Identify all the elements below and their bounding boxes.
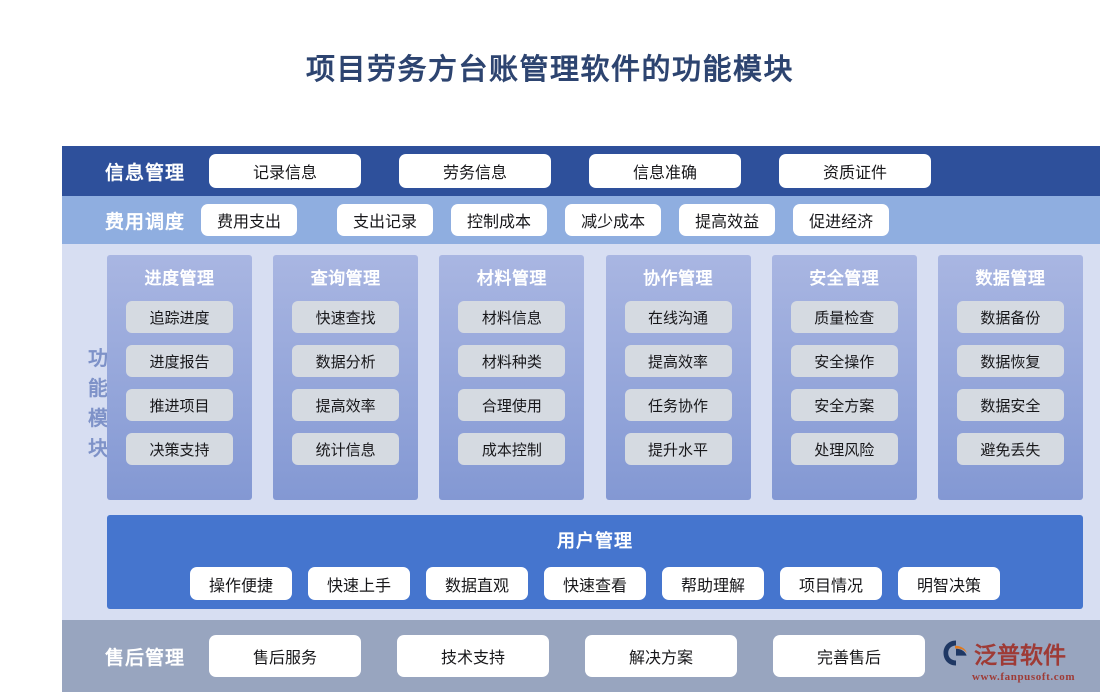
function-modules-section: 功 能 模 块 进度管理 追踪进度 进度报告 推进项目 决策支持 查询管理 快速… [62, 244, 1100, 620]
col-pill-safety-0[interactable]: 质量检查 [791, 301, 898, 333]
page-title: 项目劳务方台账管理软件的功能模块 [0, 46, 1100, 88]
row-label-information-management: 信息管理 [105, 158, 185, 185]
col-pill-collaboration-1[interactable]: 提高效率 [625, 345, 732, 377]
module-column-data: 数据管理 数据备份 数据恢复 数据安全 避免丢失 [938, 255, 1083, 500]
col-pill-data-3[interactable]: 避免丢失 [957, 433, 1064, 465]
pill-after-sales-3[interactable]: 完善售后 [773, 635, 925, 677]
pill-after-sales-0[interactable]: 售后服务 [209, 635, 361, 677]
brand-logo: 泛普软件 www.fanpusoft.com [942, 636, 1092, 683]
module-column-collaboration: 协作管理 在线沟通 提高效率 任务协作 提升水平 [606, 255, 751, 500]
row-information-management: 信息管理 记录信息 劳务信息 信息准确 资质证件 [62, 146, 1100, 196]
pill-user-2[interactable]: 数据直观 [426, 567, 528, 600]
col-pill-query-1[interactable]: 数据分析 [292, 345, 399, 377]
col-pill-collaboration-2[interactable]: 任务协作 [625, 389, 732, 421]
pill-info-0[interactable]: 记录信息 [209, 154, 361, 188]
col-pill-progress-1[interactable]: 进度报告 [126, 345, 233, 377]
column-title-safety: 安全管理 [809, 264, 879, 289]
panel-title-user-management: 用户管理 [107, 527, 1083, 553]
col-pill-progress-0[interactable]: 追踪进度 [126, 301, 233, 333]
module-column-list: 进度管理 追踪进度 进度报告 推进项目 决策支持 查询管理 快速查找 数据分析 … [107, 255, 1083, 500]
panel-user-management: 用户管理 操作便捷 快速上手 数据直观 快速查看 帮助理解 项目情况 明智决策 [107, 515, 1083, 609]
row-cost-scheduling: 费用调度 费用支出 支出记录 控制成本 减少成本 提高效益 促进经济 [62, 196, 1100, 244]
col-pill-material-1[interactable]: 材料种类 [458, 345, 565, 377]
column-title-progress: 进度管理 [145, 264, 215, 289]
col-pill-query-2[interactable]: 提高效率 [292, 389, 399, 421]
module-column-progress: 进度管理 追踪进度 进度报告 推进项目 决策支持 [107, 255, 252, 500]
pill-after-sales-1[interactable]: 技术支持 [397, 635, 549, 677]
pill-cost-2[interactable]: 控制成本 [451, 204, 547, 236]
pill-user-3[interactable]: 快速查看 [544, 567, 646, 600]
col-pill-progress-2[interactable]: 推进项目 [126, 389, 233, 421]
pill-cost-4[interactable]: 提高效益 [679, 204, 775, 236]
pill-cost-5[interactable]: 促进经济 [793, 204, 889, 236]
module-column-safety: 安全管理 质量检查 安全操作 安全方案 处理风险 [772, 255, 917, 500]
row-info-pill-list: 记录信息 劳务信息 信息准确 资质证件 [209, 154, 931, 188]
logo-brand-name: 泛普软件 [974, 636, 1066, 670]
pill-info-3[interactable]: 资质证件 [779, 154, 931, 188]
功能模块-diagram: 信息管理 记录信息 劳务信息 信息准确 资质证件 费用调度 费用支出 支出记录 … [62, 146, 1100, 692]
column-title-query: 查询管理 [311, 264, 381, 289]
col-pill-data-0[interactable]: 数据备份 [957, 301, 1064, 333]
column-title-collaboration: 协作管理 [643, 264, 713, 289]
col-pill-material-3[interactable]: 成本控制 [458, 433, 565, 465]
column-title-material: 材料管理 [477, 264, 547, 289]
pill-info-2[interactable]: 信息准确 [589, 154, 741, 188]
pill-user-5[interactable]: 项目情况 [780, 567, 882, 600]
pill-user-4[interactable]: 帮助理解 [662, 567, 764, 600]
pill-user-6[interactable]: 明智决策 [898, 567, 1000, 600]
pill-after-sales-2[interactable]: 解决方案 [585, 635, 737, 677]
col-pill-material-2[interactable]: 合理使用 [458, 389, 565, 421]
row-cost-pill-list: 费用支出 支出记录 控制成本 减少成本 提高效益 促进经济 [201, 204, 889, 236]
row-after-sales-pill-list: 售后服务 技术支持 解决方案 完善售后 [209, 635, 925, 677]
row-label-cost-scheduling: 费用调度 [105, 207, 185, 234]
module-column-material: 材料管理 材料信息 材料种类 合理使用 成本控制 [439, 255, 584, 500]
col-pill-safety-2[interactable]: 安全方案 [791, 389, 898, 421]
col-pill-collaboration-3[interactable]: 提升水平 [625, 433, 732, 465]
logo-main: 泛普软件 [942, 636, 1066, 670]
logo-website-url: www.fanpusoft.com [972, 671, 1075, 683]
pill-cost-0[interactable]: 费用支出 [201, 204, 297, 236]
pill-cost-3[interactable]: 减少成本 [565, 204, 661, 236]
col-pill-material-0[interactable]: 材料信息 [458, 301, 565, 333]
col-pill-collaboration-0[interactable]: 在线沟通 [625, 301, 732, 333]
col-pill-safety-1[interactable]: 安全操作 [791, 345, 898, 377]
row-label-after-sales: 售后管理 [105, 643, 185, 670]
col-pill-query-3[interactable]: 统计信息 [292, 433, 399, 465]
fanpu-swoosh-icon [942, 639, 970, 667]
col-pill-data-2[interactable]: 数据安全 [957, 389, 1064, 421]
col-pill-safety-3[interactable]: 处理风险 [791, 433, 898, 465]
column-title-data: 数据管理 [975, 264, 1045, 289]
module-column-query: 查询管理 快速查找 数据分析 提高效率 统计信息 [273, 255, 418, 500]
pill-user-0[interactable]: 操作便捷 [190, 567, 292, 600]
col-pill-query-0[interactable]: 快速查找 [292, 301, 399, 333]
col-pill-data-1[interactable]: 数据恢复 [957, 345, 1064, 377]
user-management-pill-list: 操作便捷 快速上手 数据直观 快速查看 帮助理解 项目情况 明智决策 [107, 567, 1083, 600]
pill-user-1[interactable]: 快速上手 [308, 567, 410, 600]
pill-info-1[interactable]: 劳务信息 [399, 154, 551, 188]
pill-cost-1[interactable]: 支出记录 [337, 204, 433, 236]
col-pill-progress-3[interactable]: 决策支持 [126, 433, 233, 465]
